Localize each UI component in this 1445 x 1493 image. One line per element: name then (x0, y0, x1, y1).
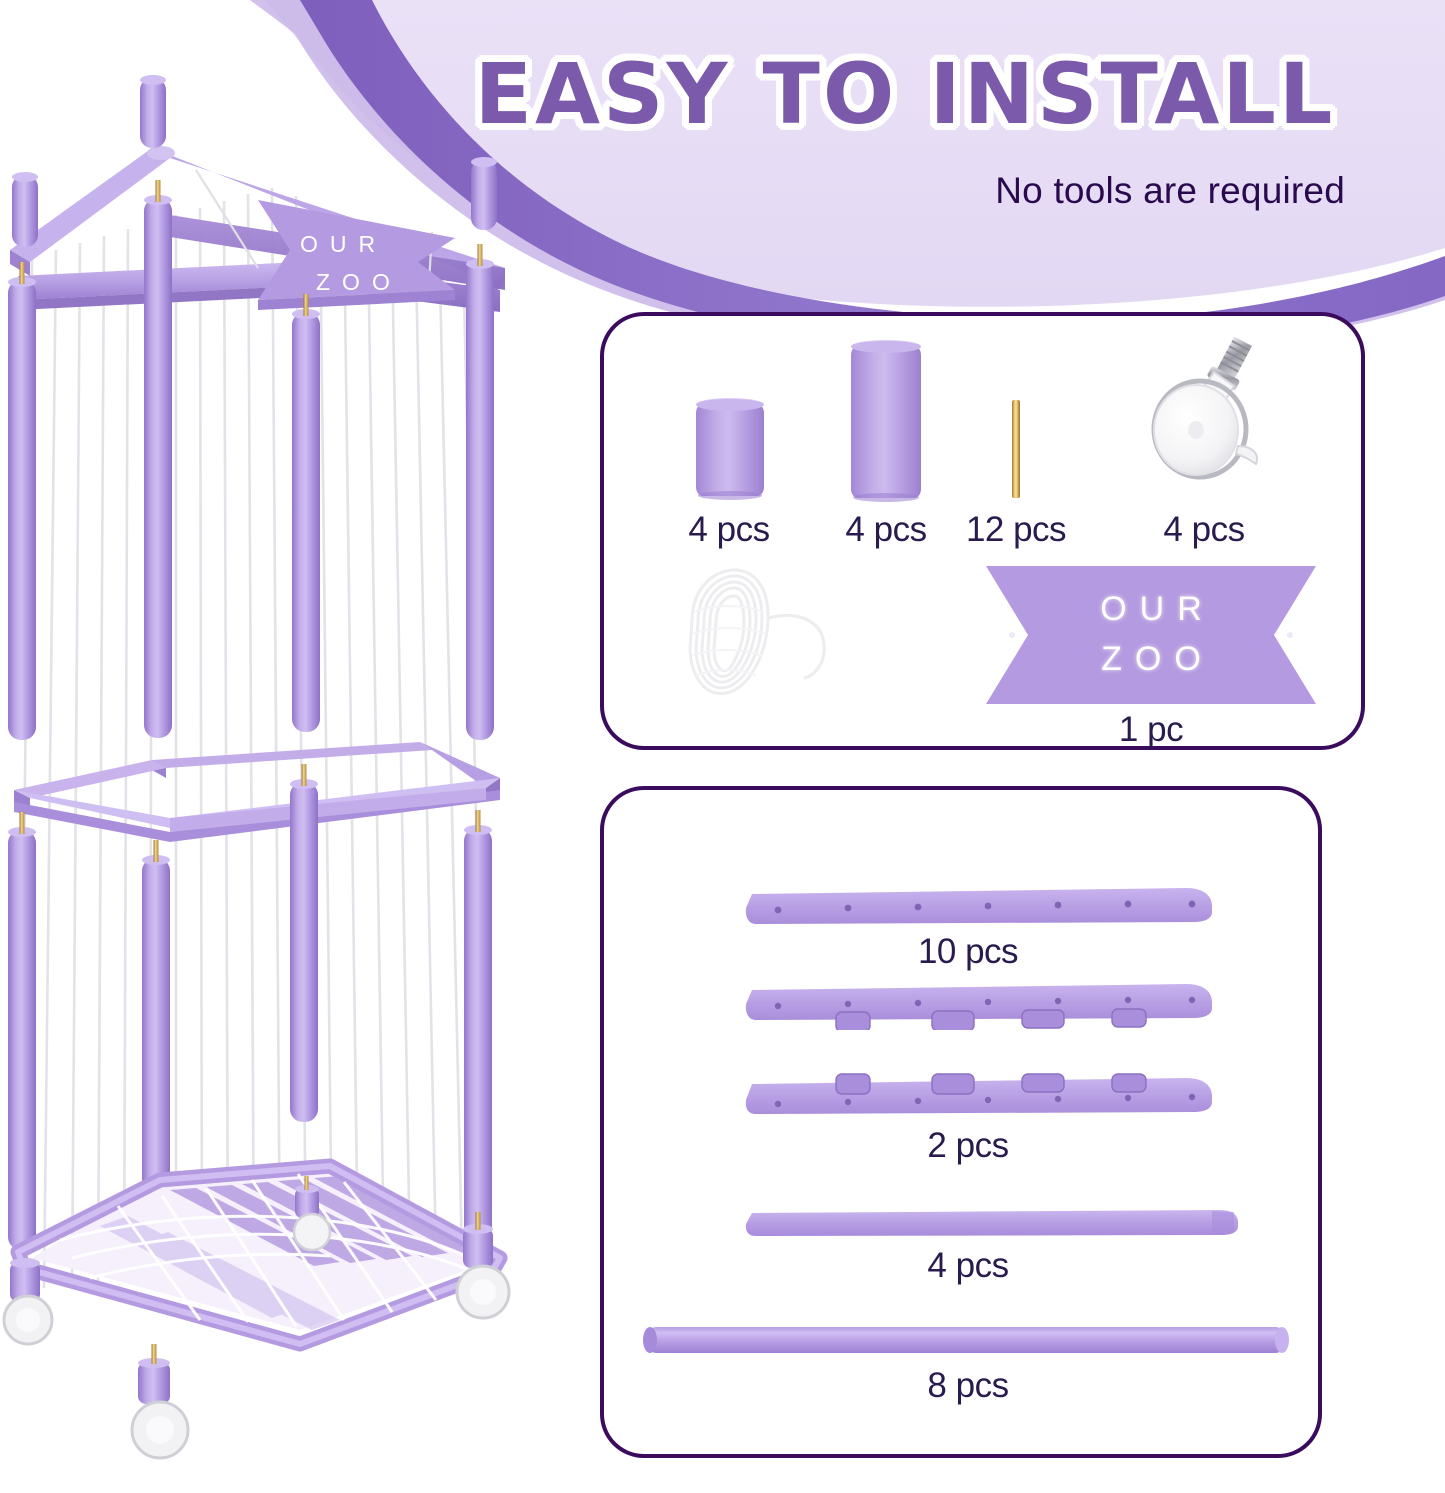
pcs-label-short-sleeve: 4 pcs (654, 510, 804, 550)
rope-strings (18, 188, 486, 1290)
rail-clips-icon (742, 1072, 1214, 1120)
svg-text:ZOO: ZOO (316, 269, 402, 295)
banner-line-2: ZOO (986, 640, 1316, 679)
flat-bar-icon (742, 1208, 1240, 1238)
pcs-label-caster: 4 pcs (1129, 510, 1279, 550)
pcs-label-rail-plain: 10 pcs (868, 932, 1068, 972)
pcs-label-brass-rod: 12 pcs (941, 510, 1091, 550)
rail-plain-icon (742, 886, 1214, 926)
banner-flag-icon: OUR ZOO (986, 566, 1316, 704)
rope-coil-icon (672, 564, 862, 704)
svg-text:OUR: OUR (300, 231, 387, 257)
caster-wheel-icon (1134, 334, 1274, 499)
hardware-parts-panel: 4 pcs 4 pcs 12 pcs (600, 312, 1365, 750)
infographic-root: EASY TO INSTALL No tools are required (0, 0, 1445, 1493)
base-tray (18, 1166, 500, 1344)
pcs-label-tall-sleeve: 4 pcs (811, 510, 961, 550)
product-exploded-illustration: OUR ZOO (0, 0, 600, 1493)
pcs-label-rail-clips: 2 pcs (868, 1126, 1068, 1166)
pcs-label-banner: 1 pc (1076, 710, 1226, 750)
banner-line-1: OUR (986, 590, 1316, 629)
rail-clips-icon (742, 982, 1214, 1030)
pcs-label-flat-bar: 4 pcs (868, 1246, 1068, 1286)
cylinder-short-icon (696, 404, 764, 496)
pcs-label-round-tube: 8 pcs (868, 1366, 1068, 1406)
round-tube-icon (640, 1324, 1292, 1356)
brass-rod-icon (1012, 400, 1020, 498)
cylinder-tall-icon (851, 346, 921, 498)
frame-rails-panel: 10 pcs (600, 786, 1322, 1458)
